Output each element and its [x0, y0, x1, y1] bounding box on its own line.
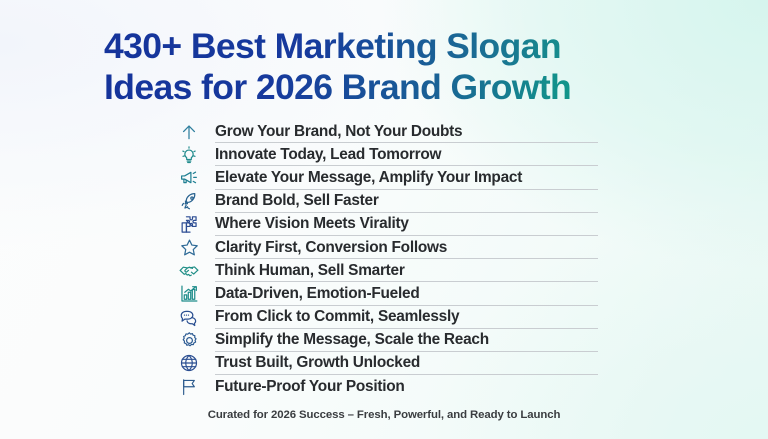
handshake-icon [172, 260, 206, 282]
slogan-text: Future-Proof Your Position [206, 377, 405, 397]
slogan-text: Innovate Today, Lead Tomorrow [206, 145, 441, 165]
bar-chart-growth-icon [172, 283, 206, 305]
slogan-text: Simplify the Message, Scale the Reach [206, 330, 489, 350]
list-item: Grow Your Brand, Not Your Doubts [172, 120, 598, 143]
slogan-list: Grow Your Brand, Not Your Doubts Innovat… [172, 120, 598, 398]
page-title: 430+ Best Marketing Slogan Ideas for 202… [104, 26, 704, 108]
slogan-text: Think Human, Sell Smarter [206, 261, 405, 281]
slogan-text: Data-Driven, Emotion-Fueled [206, 284, 419, 304]
list-item: Data-Driven, Emotion-Fueled [172, 282, 598, 305]
row-divider [215, 397, 598, 398]
list-item: Where Vision Meets Virality [172, 213, 598, 236]
list-item: Think Human, Sell Smarter [172, 259, 598, 282]
slogan-text: Clarity First, Conversion Follows [206, 238, 447, 258]
globe-icon [172, 352, 206, 374]
rocket-icon [172, 190, 206, 212]
list-item: Future-Proof Your Position [172, 375, 598, 398]
page-title-line-2: Ideas for 2026 Brand Growth [104, 67, 704, 108]
megaphone-icon [172, 167, 206, 189]
page-title-line-1: 430+ Best Marketing Slogan [104, 26, 704, 67]
list-item: Clarity First, Conversion Follows [172, 236, 598, 259]
puzzle-icon [172, 213, 206, 235]
slogan-text: Brand Bold, Sell Faster [206, 191, 379, 211]
slogan-text: Where Vision Meets Virality [206, 214, 409, 234]
list-item: Innovate Today, Lead Tomorrow [172, 143, 598, 166]
arrow-up-icon [172, 121, 206, 143]
slogan-text: From Click to Commit, Seamlessly [206, 307, 459, 327]
list-item: Brand Bold, Sell Faster [172, 190, 598, 213]
list-item: From Click to Commit, Seamlessly [172, 306, 598, 329]
flag-icon [172, 376, 206, 398]
list-item: Elevate Your Message, Amplify Your Impac… [172, 166, 598, 189]
chat-bubbles-icon [172, 306, 206, 328]
list-item: Trust Built, Growth Unlocked [172, 352, 598, 375]
slogan-text: Grow Your Brand, Not Your Doubts [206, 122, 462, 142]
slogan-poster: 430+ Best Marketing Slogan Ideas for 202… [0, 0, 768, 439]
list-item: Simplify the Message, Scale the Reach [172, 329, 598, 352]
star-icon [172, 237, 206, 259]
slogan-text: Elevate Your Message, Amplify Your Impac… [206, 168, 522, 188]
gear-icon [172, 329, 206, 351]
slogan-text: Trust Built, Growth Unlocked [206, 353, 420, 373]
footer-caption: Curated for 2026 Success – Fresh, Powerf… [0, 409, 768, 421]
lightbulb-icon [172, 144, 206, 166]
